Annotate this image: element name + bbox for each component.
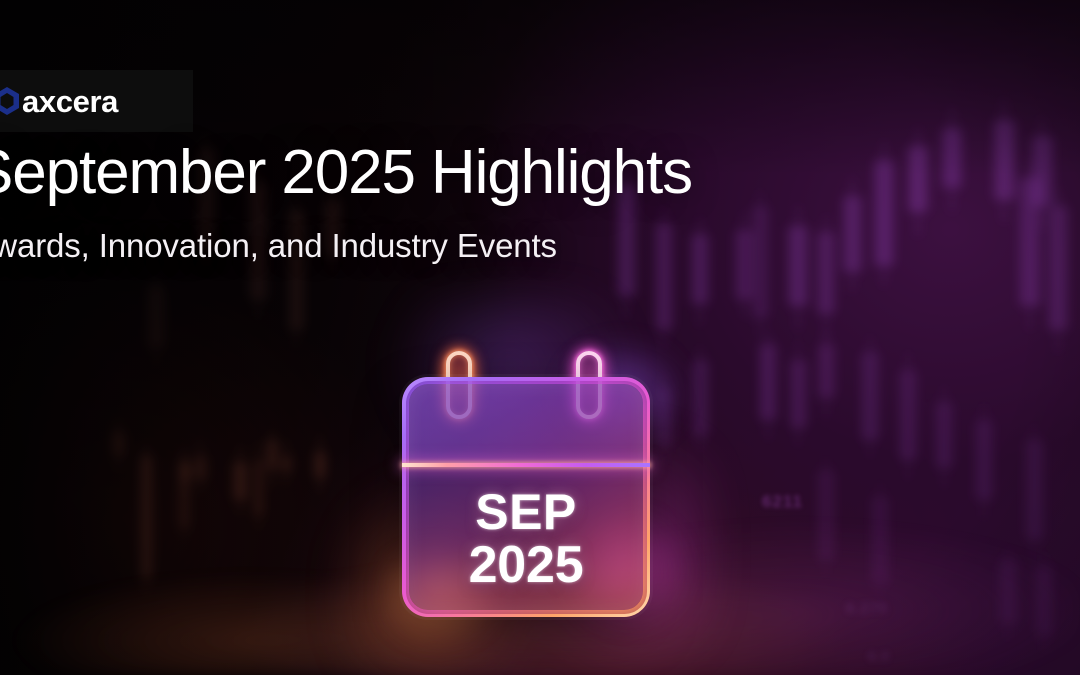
hero-banner: 62116.2756.0 axcera September 2025 Highl…: [0, 0, 1080, 675]
headline-block: September 2025 Highlights Awards, Innova…: [0, 140, 972, 265]
axcera-logo-mark-icon: [0, 86, 20, 116]
page-subtitle: Awards, Innovation, and Industry Events: [0, 227, 972, 265]
page-title: September 2025 Highlights: [0, 140, 972, 207]
calendar-icon: SEP 2025: [398, 345, 654, 617]
calendar-month-label: SEP: [475, 486, 577, 538]
brand-logo-badge: axcera: [0, 70, 193, 132]
calendar-date-text: SEP 2025: [402, 473, 650, 605]
calendar-divider: [402, 463, 650, 467]
brand-name: axcera: [22, 86, 118, 117]
calendar-year-label: 2025: [469, 538, 584, 592]
